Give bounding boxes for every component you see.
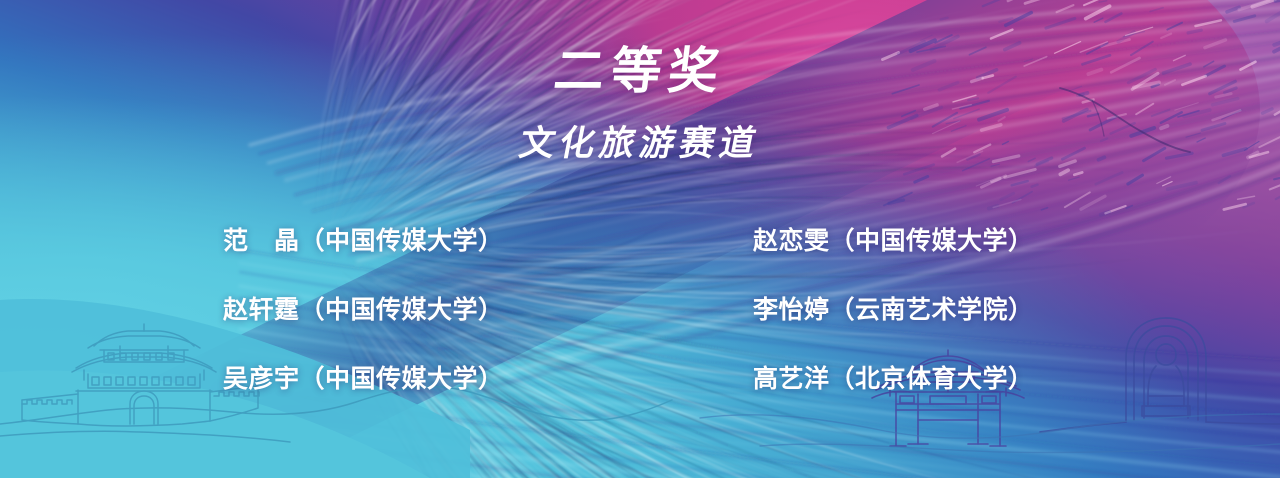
winner-list: 范 晶（中国传媒大学） 赵恋雯（中国传媒大学） 赵轩霆（中国传媒大学） 李怡婷（… (223, 207, 1103, 414)
page-title: 二等奖 (0, 46, 1280, 96)
list-item: 赵恋雯（中国传媒大学） (753, 229, 1103, 254)
list-item: 范 晶（中国传媒大学） (223, 229, 753, 254)
poster-text-layer: 二等奖 文化旅游赛道 范 晶（中国传媒大学） 赵恋雯（中国传媒大学） 赵轩霆（中… (0, 0, 1280, 478)
list-item: 吴彦宇（中国传媒大学） (223, 367, 753, 392)
list-item: 赵轩霆（中国传媒大学） (223, 298, 753, 323)
list-item: 李怡婷（云南艺术学院） (753, 298, 1103, 323)
list-item: 高艺洋（北京体育大学） (753, 367, 1103, 392)
award-poster: 二等奖 文化旅游赛道 范 晶（中国传媒大学） 赵恋雯（中国传媒大学） 赵轩霆（中… (0, 0, 1280, 478)
track-subtitle: 文化旅游赛道 (0, 126, 1280, 161)
